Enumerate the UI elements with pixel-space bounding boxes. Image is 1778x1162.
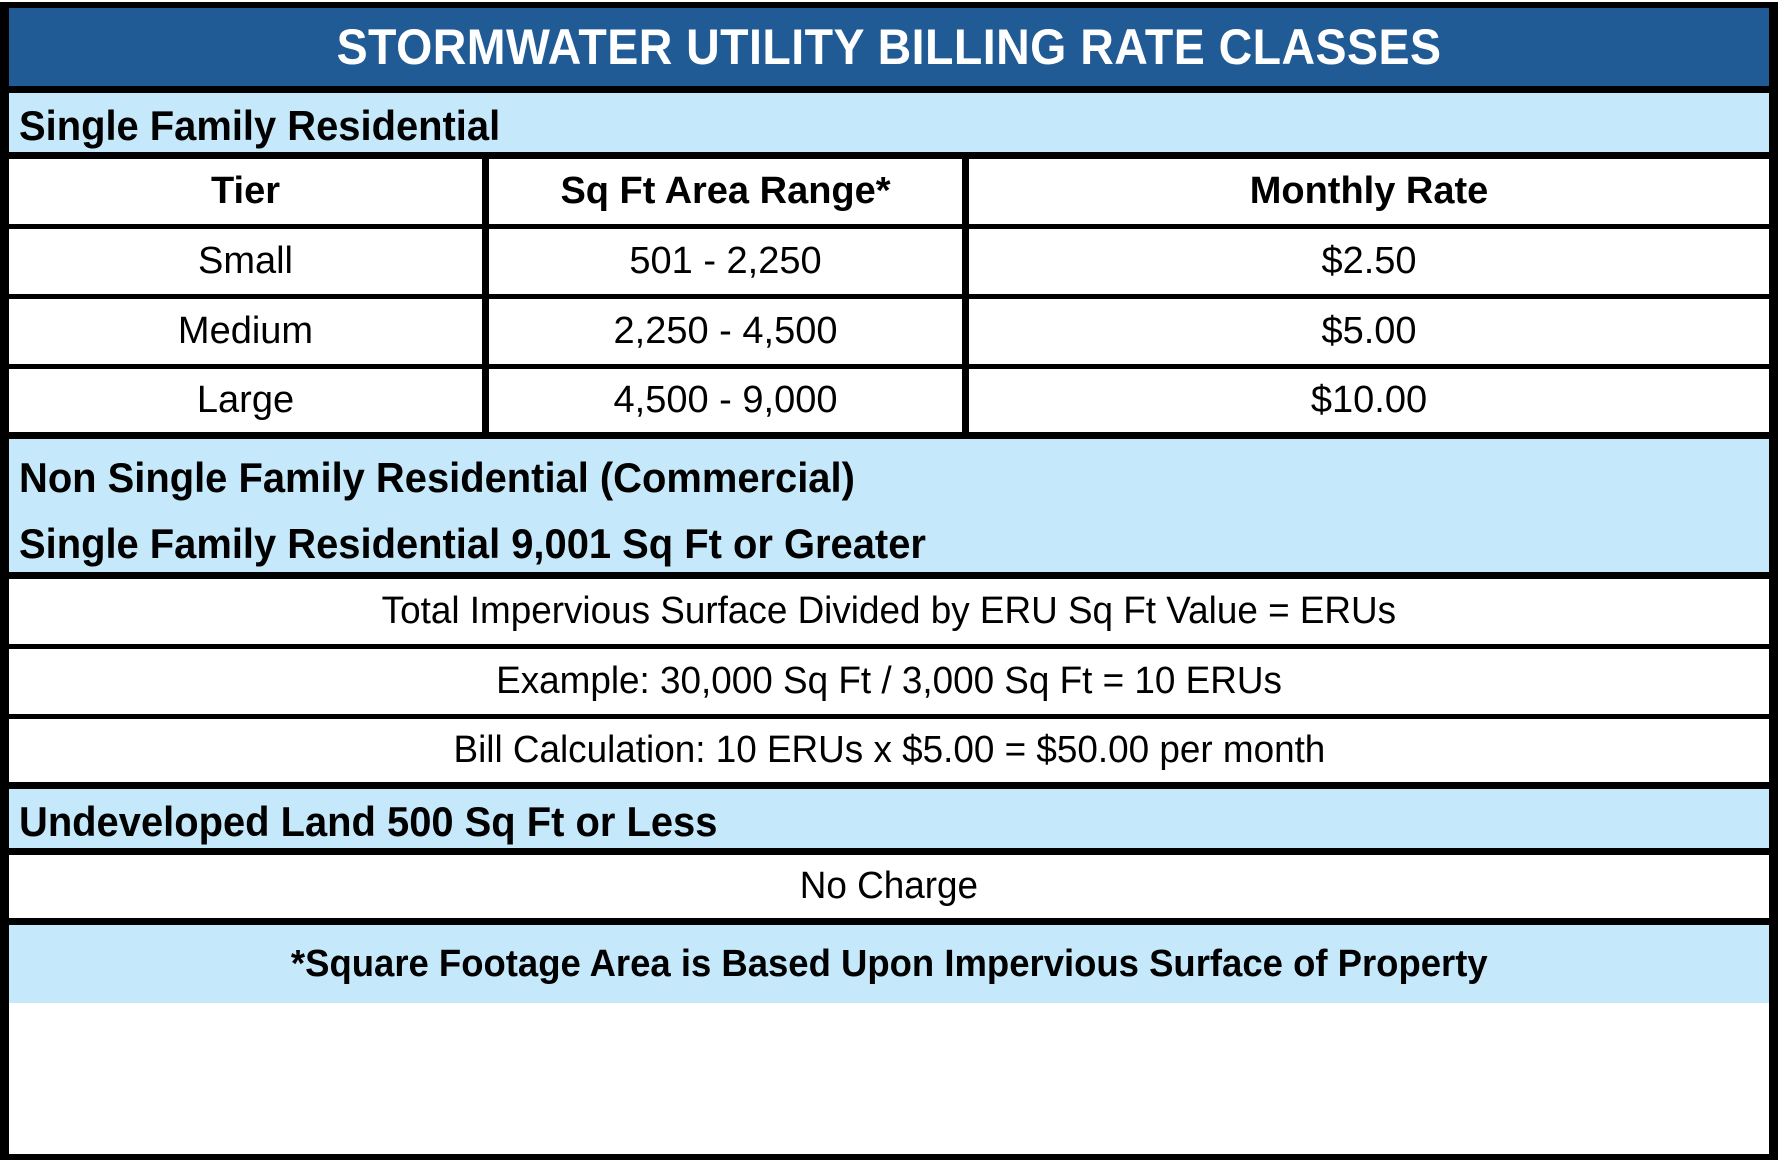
column-header-sqft-range: Sq Ft Area Range* [489,159,969,224]
commercial-formula-bill-text: Bill Calculation: 10 ERUs x $5.00 = $50.… [453,729,1325,772]
commercial-formula-eru-text: Total Impervious Surface Divided by ERU … [382,590,1396,633]
section-header-single-family: Single Family Residential [9,93,1769,159]
cell-range-small: 501 - 2,250 [489,229,969,294]
commercial-formula-row-example: Example: 30,000 Sq Ft / 3,000 Sq Ft = 10… [9,649,1769,719]
cell-range-medium: 2,250 - 4,500 [489,299,969,364]
section-header-single-family-label: Single Family Residential [19,93,1682,159]
cell-tier-medium: Medium [9,299,489,364]
cell-range-large: 4,500 - 9,000 [489,369,969,432]
commercial-formula-row-eru: Total Impervious Surface Divided by ERU … [9,579,1769,649]
table-row: Medium 2,250 - 4,500 $5.00 [9,299,1769,369]
section-header-commercial-line1: Non Single Family Residential (Commercia… [19,445,1682,511]
rate-classes-table: STORMWATER UTILITY BILLING RATE CLASSES … [0,2,1778,1160]
table-title-bar: STORMWATER UTILITY BILLING RATE CLASSES [9,8,1769,93]
section-header-commercial: Non Single Family Residential (Commercia… [9,439,1769,579]
cell-tier-large: Large [9,369,489,432]
column-header-tier: Tier [9,159,489,224]
section-header-commercial-line2: Single Family Residential 9,001 Sq Ft or… [19,511,1682,577]
page-title: STORMWATER UTILITY BILLING RATE CLASSES [337,22,1442,72]
table-row: Small 501 - 2,250 $2.50 [9,229,1769,299]
cell-tier-small: Small [9,229,489,294]
cell-rate-small: $2.50 [969,229,1769,294]
table-row: Large 4,500 - 9,000 $10.00 [9,369,1769,439]
cell-rate-medium: $5.00 [969,299,1769,364]
stormwater-rate-table-page: STORMWATER UTILITY BILLING RATE CLASSES … [0,0,1778,1162]
footnote-text: *Square Footage Area is Based Upon Imper… [291,943,1488,986]
section-header-undeveloped-land: Undeveloped Land 500 Sq Ft or Less [9,789,1769,855]
single-family-tier-table: Tier Sq Ft Area Range* Monthly Rate Smal… [9,159,1769,439]
column-header-monthly-rate: Monthly Rate [969,159,1769,224]
undeveloped-land-charge-row: No Charge [9,855,1769,925]
tier-table-header-row: Tier Sq Ft Area Range* Monthly Rate [9,159,1769,229]
footnote-band: *Square Footage Area is Based Upon Imper… [9,925,1769,1003]
undeveloped-land-charge-text: No Charge [800,865,978,908]
cell-rate-large: $10.00 [969,369,1769,432]
section-header-undeveloped-land-label: Undeveloped Land 500 Sq Ft or Less [19,789,1682,855]
commercial-formula-row-bill: Bill Calculation: 10 ERUs x $5.00 = $50.… [9,719,1769,789]
commercial-formula-example-text: Example: 30,000 Sq Ft / 3,000 Sq Ft = 10… [496,660,1282,703]
